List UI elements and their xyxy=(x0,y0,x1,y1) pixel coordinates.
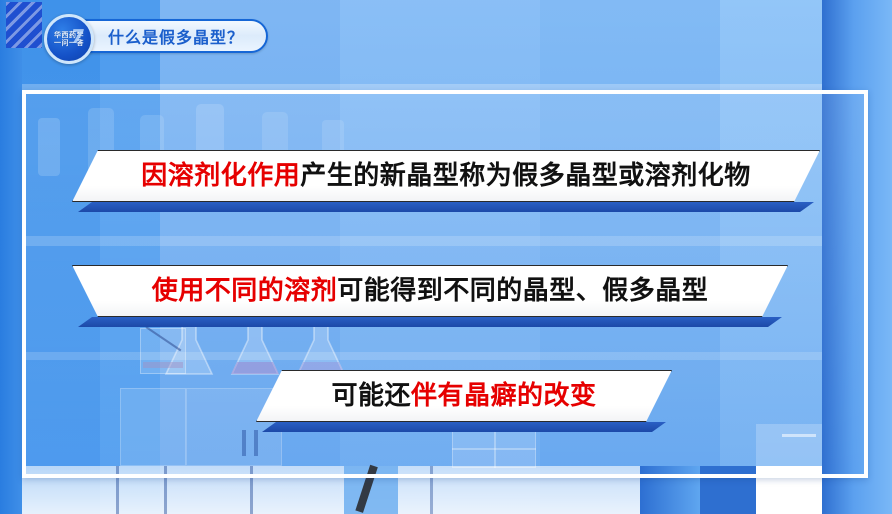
header-bar: 什么是假多晶型？ 华西药学 一问一答 7 xyxy=(44,14,268,58)
left-edge-column xyxy=(0,0,22,514)
statement-banner-3: 可能还伴有晶癖的改变 xyxy=(256,370,672,422)
striped-corner-decoration xyxy=(6,2,42,48)
question-title-pill: 什么是假多晶型？ xyxy=(66,19,268,53)
banner-3-highlight: 伴有晶癖的改变 xyxy=(411,381,597,411)
statement-banner-1-wrap: 因溶剂化作用产生的新晶型称为假多晶型或溶剂化物 xyxy=(72,150,820,202)
banner-1-normal: 产生的新晶型称为假多晶型或溶剂化物 xyxy=(300,161,751,191)
banner-2-shadow xyxy=(78,317,782,327)
logo-seven-mark: 7 xyxy=(69,26,85,48)
banner-3-text: 可能还伴有晶癖的改变 xyxy=(331,383,596,409)
banner-3-shadow xyxy=(262,422,666,432)
statement-banner-2: 使用不同的溶剂可能得到不同的晶型、假多晶型 xyxy=(72,265,788,317)
banner-3-normal: 可能还 xyxy=(331,381,411,411)
program-logo-badge[interactable]: 华西药学 一问一答 7 xyxy=(44,14,94,64)
banner-1-highlight: 因溶剂化作用 xyxy=(141,161,300,191)
statement-banner-1: 因溶剂化作用产生的新晶型称为假多晶型或溶剂化物 xyxy=(72,150,820,202)
statement-banner-3-wrap: 可能还伴有晶癖的改变 xyxy=(256,370,672,422)
banner-1-shadow xyxy=(78,202,814,212)
banner-2-text: 使用不同的溶剂可能得到不同的晶型、假多晶型 xyxy=(152,278,709,304)
banner-1-text: 因溶剂化作用产生的新晶型称为假多晶型或溶剂化物 xyxy=(141,163,751,189)
statement-banner-2-wrap: 使用不同的溶剂可能得到不同的晶型、假多晶型 xyxy=(72,265,788,317)
video-frame-stage: 什么是假多晶型？ 华西药学 一问一答 7 因溶剂化作用产生的新晶型称为假多晶型或… xyxy=(0,0,892,514)
banner-2-normal: 可能得到不同的晶型、假多晶型 xyxy=(337,276,708,306)
page-title: 什么是假多晶型？ xyxy=(108,24,244,48)
banner-2-highlight: 使用不同的溶剂 xyxy=(152,276,338,306)
